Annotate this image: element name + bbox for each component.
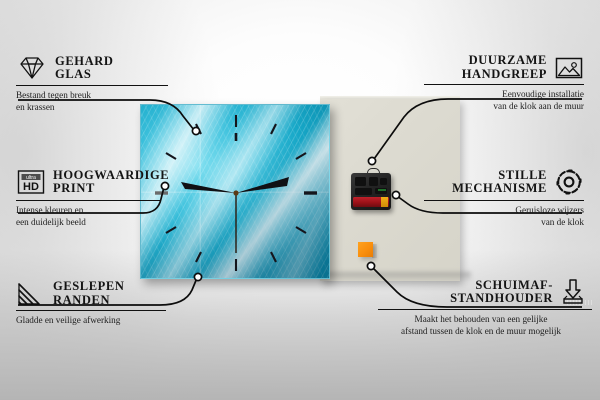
feature-divider <box>424 200 584 201</box>
feature-title-line2: PRINT <box>53 182 169 196</box>
minute-hand <box>236 177 289 193</box>
feature-title-line2: HANDGREEP <box>462 68 547 82</box>
feature-title-line1: DUURZAME <box>462 54 547 68</box>
feature-desc-line2: afstand tussen de klok en de muur mogeli… <box>370 326 592 337</box>
feature-desc-line1: Intense kleuren en <box>16 205 182 216</box>
feature-schuimafstandhouder[interactable]: SCHUIMAF- STANDHOUDER Maakt het behouden… <box>370 278 592 337</box>
feature-divider <box>424 84 584 85</box>
feature-desc-line1: Bestand tegen breuk <box>16 90 176 101</box>
feature-title-line1: HOOGWAARDIGE <box>53 169 169 183</box>
feature-duurzame-handgreep[interactable]: DUURZAME HANDGREEP Eenvoudige installati… <box>406 54 584 112</box>
feature-gehard-glas[interactable]: GEHARD GLAS Bestand tegen breuk en krass… <box>16 54 176 113</box>
gear-icon <box>554 167 584 197</box>
feature-title-line1: SCHUIMAF- <box>450 279 553 293</box>
feature-desc-line1: Eenvoudige installatie <box>406 89 584 100</box>
ultra-hd-icon: ultra HD <box>16 167 46 197</box>
feature-desc-line1: Geruisloze wijzers <box>406 205 584 216</box>
svg-text:HD: HD <box>23 181 39 193</box>
feature-desc-line2: van de klok aan de muur <box>406 101 584 112</box>
feature-title-line2: RANDEN <box>53 294 125 308</box>
feature-divider <box>16 310 166 311</box>
feature-desc-line2: een duidelijk beeld <box>16 217 182 228</box>
feature-title-line1: GESLEPEN <box>53 280 125 294</box>
hour-hand <box>181 182 236 193</box>
hands-center-cap <box>233 190 238 195</box>
feature-desc-line1: Maakt het behouden van een gelijke <box>370 314 592 325</box>
feature-title-line2: MECHANISME <box>452 182 547 196</box>
feature-divider <box>378 309 592 310</box>
feature-stille-mechanisme[interactable]: STILLE MECHANISME Geruisloze wijzers van… <box>406 167 584 228</box>
feature-desc-line1: Gladde en veilige afwerking <box>16 315 186 326</box>
feature-desc-line2: en krassen <box>16 102 176 113</box>
bevelled-edges-icon <box>16 281 46 307</box>
feature-desc-line2: van de klok <box>406 217 584 228</box>
picture-frame-icon <box>554 55 584 81</box>
feature-geslepen-randen[interactable]: GESLEPEN RANDEN Gladde en veilige afwerk… <box>16 280 186 327</box>
battery-terminal <box>381 197 388 207</box>
down-arrow-spacer-icon <box>560 278 586 306</box>
feature-title-line2: GLAS <box>55 68 113 82</box>
feature-title-line1: GEHARD <box>55 55 113 69</box>
feature-hoogwaardige-print[interactable]: ultra HD HOOGWAARDIGE PRINT Intense kleu… <box>16 167 182 228</box>
feature-divider <box>16 200 160 201</box>
product-feature-infographic: GEHARD GLAS Bestand tegen breuk en krass… <box>0 0 600 400</box>
foam-spacer <box>358 242 373 257</box>
feature-title-line1: STILLE <box>452 169 547 183</box>
diamond-icon <box>16 54 48 82</box>
feature-divider <box>16 85 168 86</box>
feature-title-line2: STANDHOUDER <box>450 292 553 306</box>
